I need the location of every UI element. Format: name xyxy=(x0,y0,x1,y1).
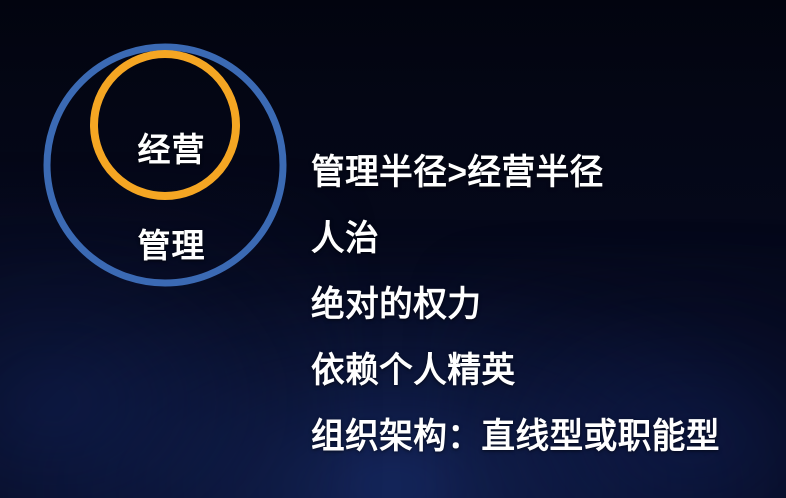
slide-canvas: 经营 管理 管理半径>经营半径 人治 绝对的权力 依赖个人精英 组织架构：直线型… xyxy=(0,0,786,498)
inner-circle-ring xyxy=(94,54,236,196)
concentric-circle-diagram: 经营 管理 xyxy=(34,28,309,308)
bullet-line-3: 绝对的权力 xyxy=(311,272,762,338)
bullet-line-2: 人治 xyxy=(311,206,762,272)
outer-circle-label: 管理 xyxy=(34,229,309,262)
bullet-line-5: 组织架构：直线型或职能型 xyxy=(311,404,762,470)
bullet-line-4: 依赖个人精英 xyxy=(311,338,762,404)
bullet-line-1: 管理半径>经营半径 xyxy=(311,140,762,206)
inner-circle-label: 经营 xyxy=(34,133,309,166)
bullet-list: 管理半径>经营半径 人治 绝对的权力 依赖个人精英 组织架构：直线型或职能型 xyxy=(311,140,781,470)
